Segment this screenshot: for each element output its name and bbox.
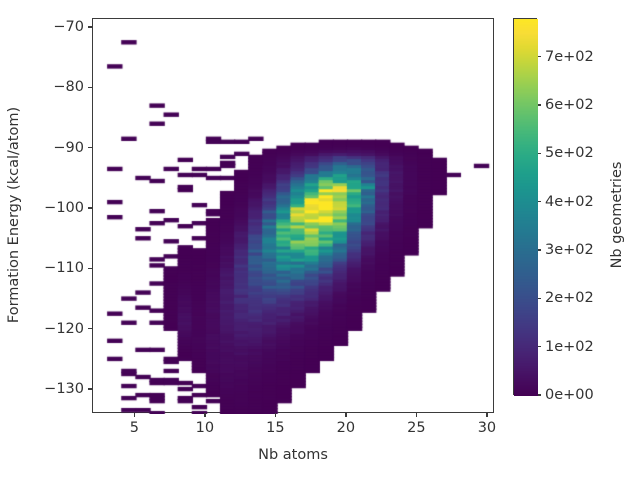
y-tick-mark xyxy=(88,87,92,88)
x-tick-mark xyxy=(275,413,276,417)
plot-axes xyxy=(92,18,494,413)
colorbar-tick-label: 4e+02 xyxy=(545,194,594,210)
heatmap-image xyxy=(93,19,495,414)
colorbar-tick-label: 2e+02 xyxy=(545,290,594,306)
x-tick-label: 15 xyxy=(266,420,284,436)
y-tick-label: −90 xyxy=(30,140,84,156)
x-tick-mark xyxy=(134,413,135,417)
y-tick-label: −70 xyxy=(30,19,84,35)
x-tick-mark xyxy=(486,413,487,417)
colorbar-tick-label: 7e+02 xyxy=(545,49,594,65)
x-tick-mark xyxy=(345,413,346,417)
y-tick-label: −80 xyxy=(30,79,84,95)
y-tick-mark xyxy=(88,207,92,208)
y-tick-label: −100 xyxy=(30,200,84,216)
x-tick-mark xyxy=(416,413,417,417)
x-tick-label: 30 xyxy=(478,420,496,436)
x-tick-label: 20 xyxy=(337,420,355,436)
colorbar-gradient xyxy=(514,19,538,396)
x-axis-label: Nb atoms xyxy=(258,447,328,463)
x-tick-label: 10 xyxy=(196,420,214,436)
y-tick-mark xyxy=(88,388,92,389)
colorbar-tick-label: 3e+02 xyxy=(545,242,594,258)
y-axis-label: Formation Energy (kcal/atom) xyxy=(6,107,22,323)
colorbar-tick-label: 1e+02 xyxy=(545,339,594,355)
colorbar-tick-label: 0e+00 xyxy=(545,387,594,403)
y-tick-mark xyxy=(88,147,92,148)
matplotlib-figure: 51015202530 −70−80−90−100−110−120−130 0e… xyxy=(0,0,640,480)
y-tick-label: −120 xyxy=(30,321,84,337)
y-tick-mark xyxy=(88,26,92,27)
colorbar xyxy=(513,18,537,395)
y-tick-mark xyxy=(88,268,92,269)
x-tick-label: 5 xyxy=(130,420,139,436)
x-tick-label: 25 xyxy=(407,420,425,436)
colorbar-tick-label: 5e+02 xyxy=(545,145,594,161)
colorbar-tick-label: 6e+02 xyxy=(545,97,594,113)
y-tick-label: −130 xyxy=(30,381,84,397)
x-tick-mark xyxy=(204,413,205,417)
colorbar-label: Nb geometries xyxy=(609,162,625,269)
y-tick-label: −110 xyxy=(30,260,84,276)
y-tick-mark xyxy=(88,328,92,329)
